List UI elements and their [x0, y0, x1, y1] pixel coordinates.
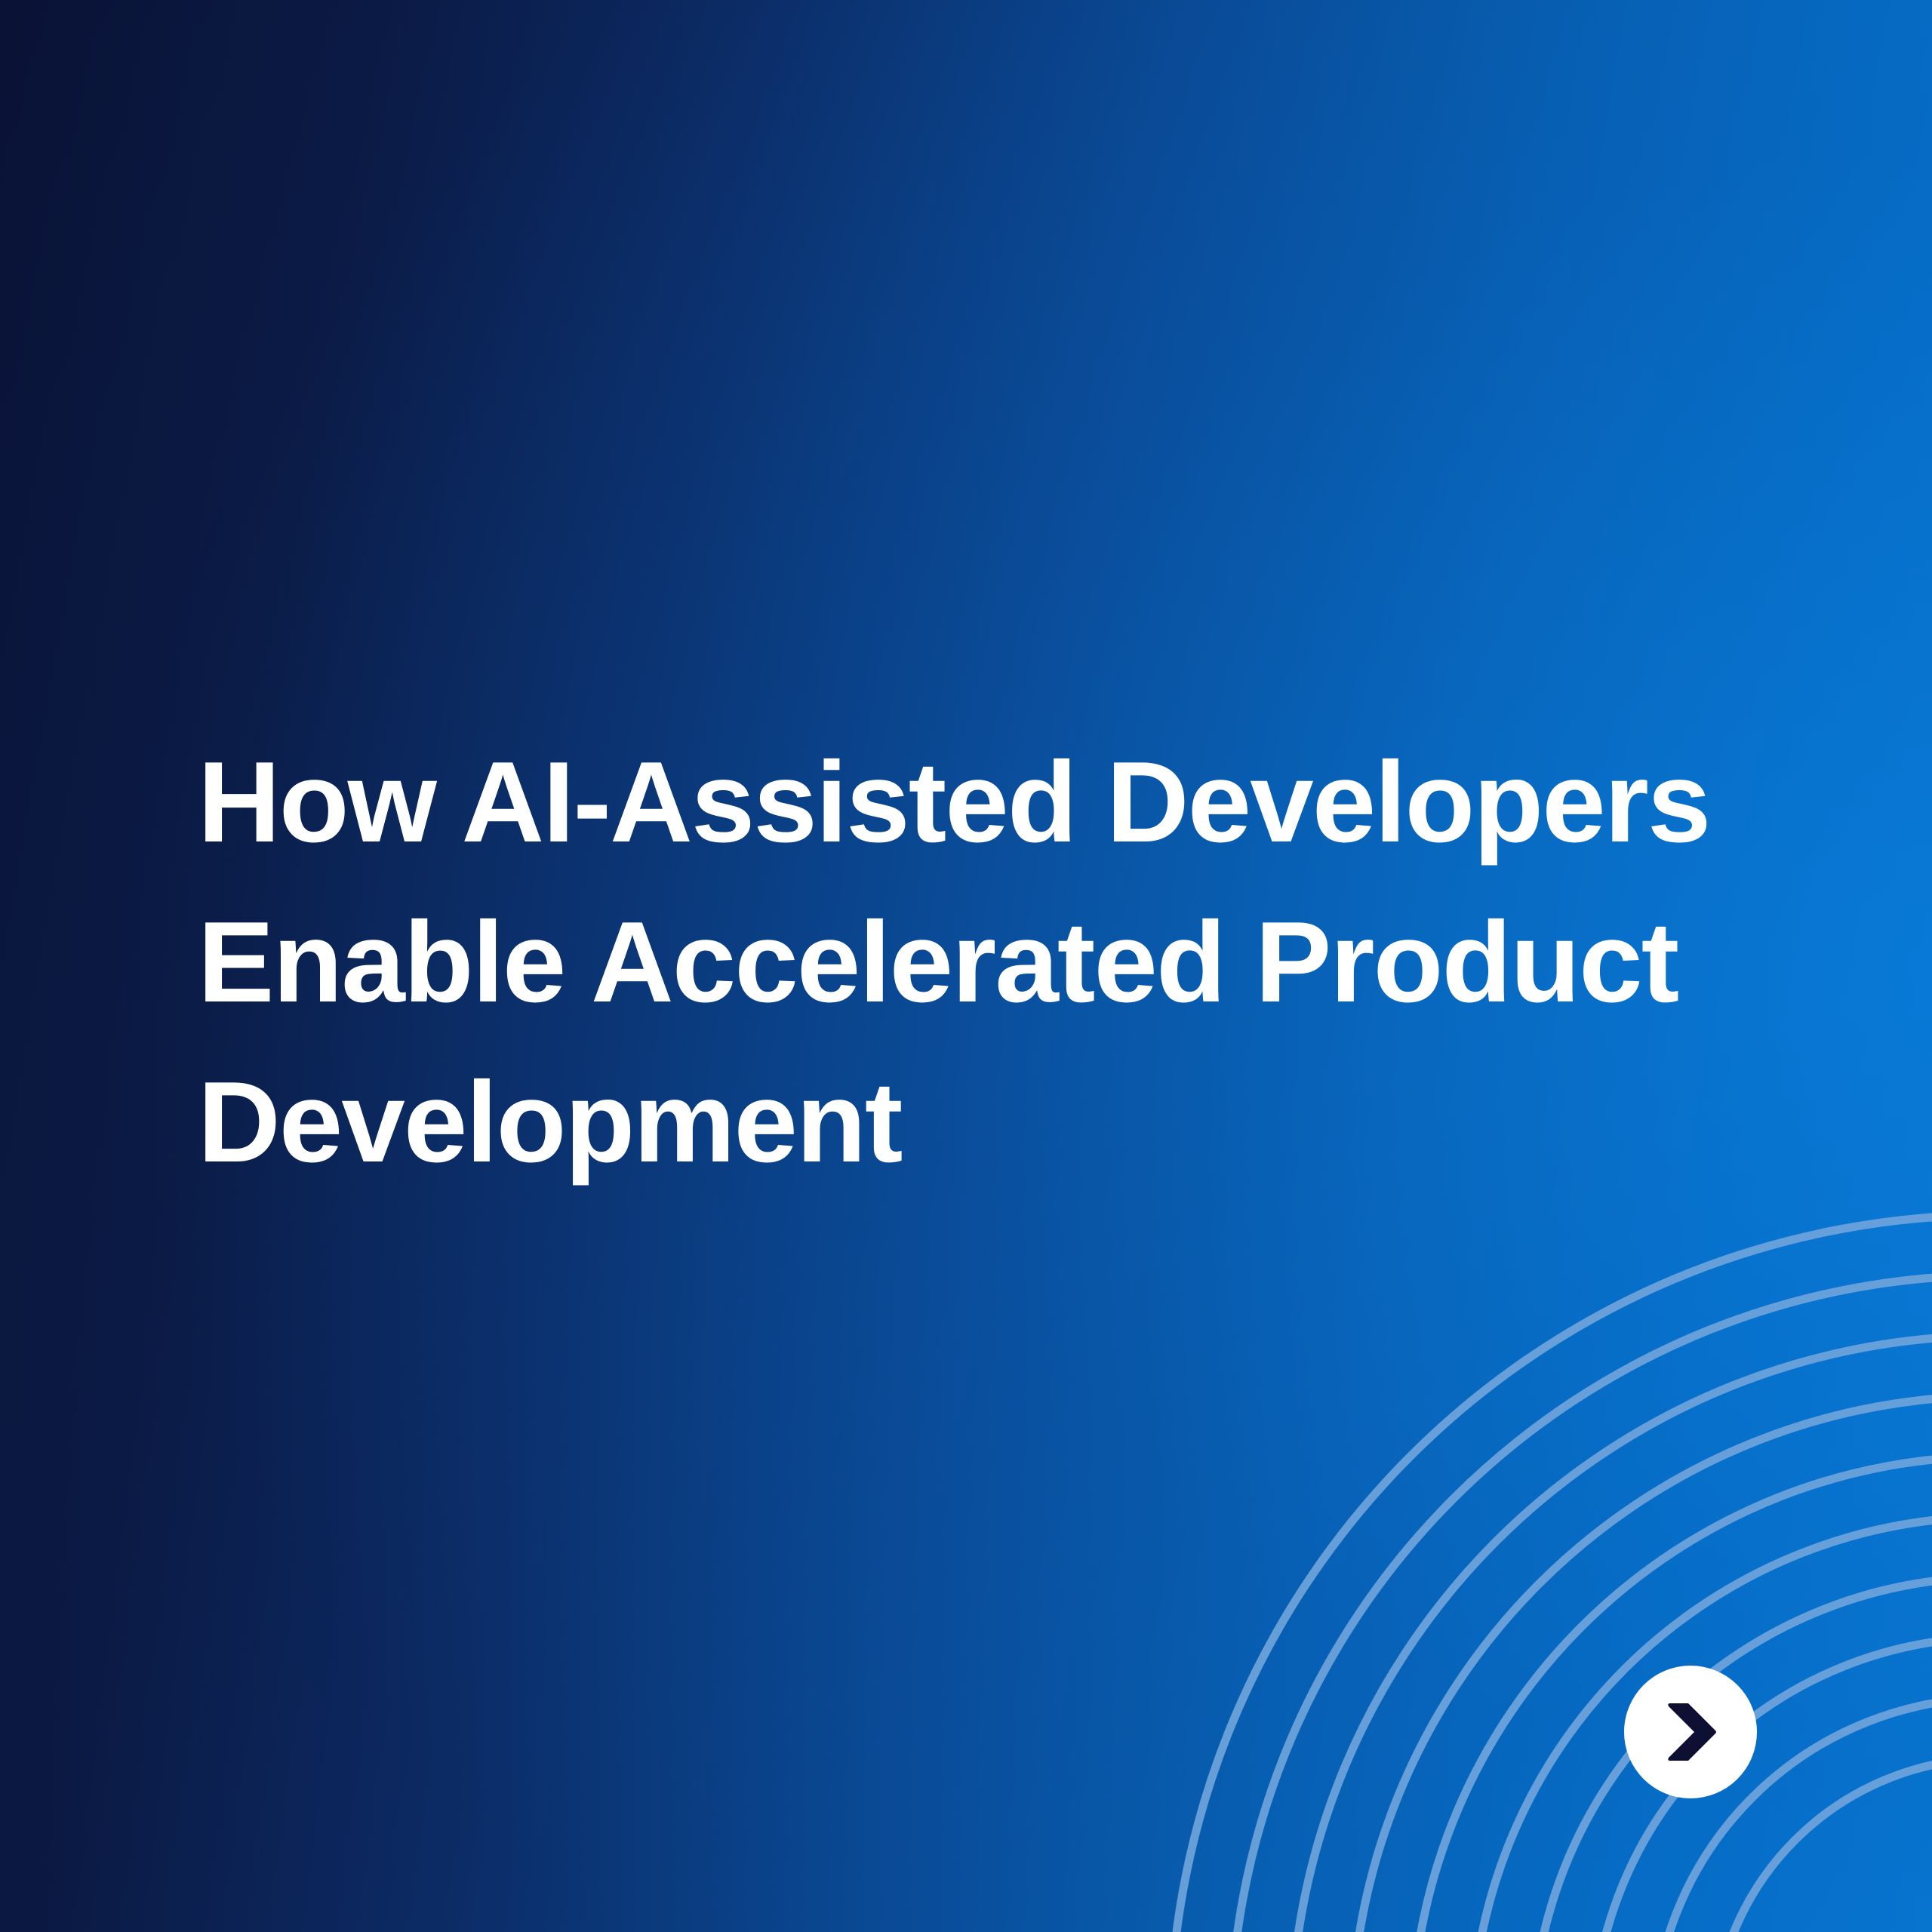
- headline-line-3: Development: [198, 1042, 1767, 1202]
- headline-line-1: How AI-Assisted Developers: [198, 722, 1767, 882]
- title-card-canvas: How AI-Assisted Developers Enable Accele…: [0, 0, 1932, 1932]
- chevron-right-icon: [1661, 1700, 1720, 1764]
- headline-line-2: Enable Accelerated Product: [198, 882, 1767, 1042]
- next-slide-button[interactable]: [1624, 1666, 1757, 1798]
- headline: How AI-Assisted Developers Enable Accele…: [198, 722, 1767, 1202]
